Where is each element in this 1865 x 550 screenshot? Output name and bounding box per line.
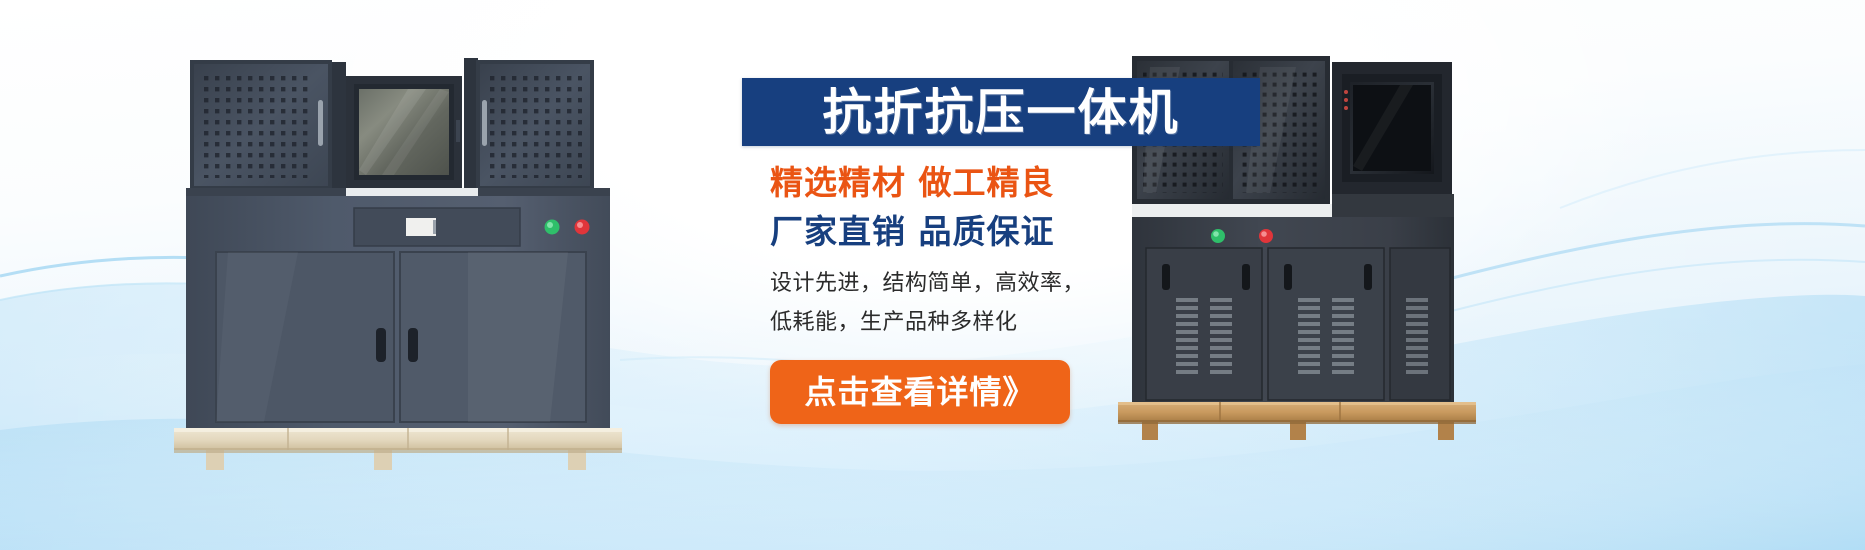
title-banner: 抗折抗压一体机 xyxy=(742,78,1260,146)
description-block: 设计先进，结构简单，高效率， 低耗能，生产品种多样化 xyxy=(770,265,1282,342)
view-details-label: 点击查看详情》 xyxy=(804,376,1035,408)
machine-body xyxy=(186,196,610,430)
monitor-tower xyxy=(1332,62,1452,194)
door-handle-left xyxy=(376,328,386,362)
subtitle-secondary: 厂家直销 品质保证 xyxy=(770,214,1282,250)
promo-banner: 抗折抗压一体机 精选精材 做工精良 厂家直销 品质保证 设计先进，结构简单，高效… xyxy=(0,0,1865,550)
description-line-1: 设计先进，结构简单，高效率， xyxy=(770,265,1282,304)
product-image-left xyxy=(168,40,628,470)
lower-door-handle-right2 xyxy=(1364,264,1372,290)
wooden-pallet xyxy=(174,428,622,470)
subtitle-primary: 精选精材 做工精良 xyxy=(770,165,1282,201)
view-details-button[interactable]: 点击查看详情》 xyxy=(770,360,1070,424)
control-monitor xyxy=(346,76,462,188)
promo-copy-block: 抗折抗压一体机 精选精材 做工精良 厂家直销 品质保证 设计先进，结构简单，高效… xyxy=(742,78,1282,478)
left-upper-cabinet xyxy=(190,60,346,190)
lower-door-handle-right xyxy=(1284,264,1292,290)
page-title: 抗折抗压一体机 xyxy=(822,88,1179,137)
right-upper-cabinet xyxy=(464,58,594,190)
door-handle-right xyxy=(408,328,418,362)
description-line-2: 低耗能，生产品种多样化 xyxy=(770,304,1282,343)
